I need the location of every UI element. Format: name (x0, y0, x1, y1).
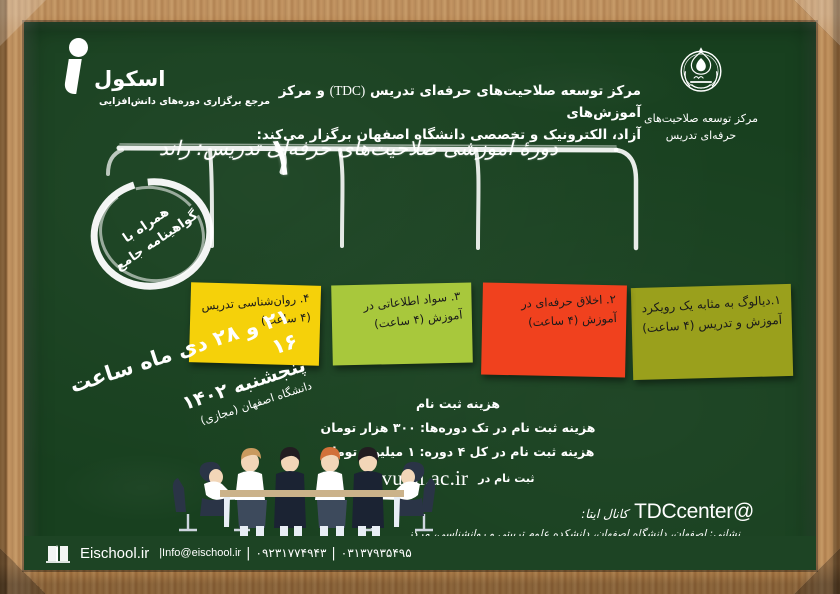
certificate-stamp: همراه با گواهینامه جامع (82, 170, 222, 298)
footer-sep-1: | (246, 546, 250, 561)
footer-site[interactable]: Eischool.ir (80, 545, 149, 562)
team-meeting-illustration (172, 436, 452, 546)
university-caption-line1: مرکز توسعه صلاحیت‌های (616, 110, 786, 127)
letter-i-icon (60, 38, 90, 94)
chalkboard: اسکول مرجع برگزاری دوره‌های دانش‌افزایی (24, 22, 816, 570)
footer-bar: Eischool.ir |Info@eischool.ir | ۰۹۲۳۱۷۷۴… (24, 536, 816, 570)
course-card-2[interactable]: ۲. اخلاق حرفه‌ای در آموزش (۴ ساعت) (481, 283, 627, 378)
course-card-1[interactable]: ۱.دیالوگ به مثابه یک رویکرد آموزش و تدری… (631, 284, 793, 380)
eitaa-label: کانال ایتا: (581, 507, 628, 521)
headline-acronym: (TDC) (330, 83, 366, 98)
course-round-number: ۱ (264, 129, 299, 186)
university-of-isfahan-seal-icon (671, 40, 731, 100)
eitaa-handle[interactable]: @TDCcenter (634, 500, 754, 524)
footer-sep-2: | (331, 546, 335, 561)
fees-title: هزینه ثبت نام (288, 392, 628, 416)
course-card-2-text: ۲. اخلاق حرفه‌ای در آموزش (۴ ساعت) (492, 290, 618, 334)
course-card-3-text: ۳. سواد اطلاعاتی در آموزش (۴ ساعت) (340, 287, 463, 338)
course-card-3[interactable]: ۳. سواد اطلاعاتی در آموزش (۴ ساعت) (331, 283, 473, 366)
footer-phone-1: ۰۹۲۳۱۷۷۴۹۴۳ (256, 546, 327, 560)
brand-name: اسکول (94, 69, 165, 94)
footer-email[interactable]: |Info@eischool.ir (159, 547, 241, 559)
course-card-1-text: ۱.دیالوگ به مثابه یک رویکرد آموزش و تدری… (640, 291, 782, 339)
footer-phone-2: ۰۳۱۳۷۹۳۵۴۹۵ (341, 546, 412, 560)
headline-part1: مرکز توسعه صلاحیت‌های حرفه‌ای تدریس (370, 83, 641, 99)
university-caption-line2: حرفه‌ای تدریس (616, 127, 786, 144)
course-title: دورۀ آموزشی صلاحیت‌های حرفه‌ای تدریس: را… (158, 136, 558, 160)
university-logo: مرکز توسعه صلاحیت‌های حرفه‌ای تدریس (616, 40, 786, 144)
book-icon (46, 543, 70, 563)
poster: اسکول مرجع برگزاری دوره‌های دانش‌افزایی (0, 0, 840, 594)
register-label: ثبت نام در (478, 472, 534, 485)
